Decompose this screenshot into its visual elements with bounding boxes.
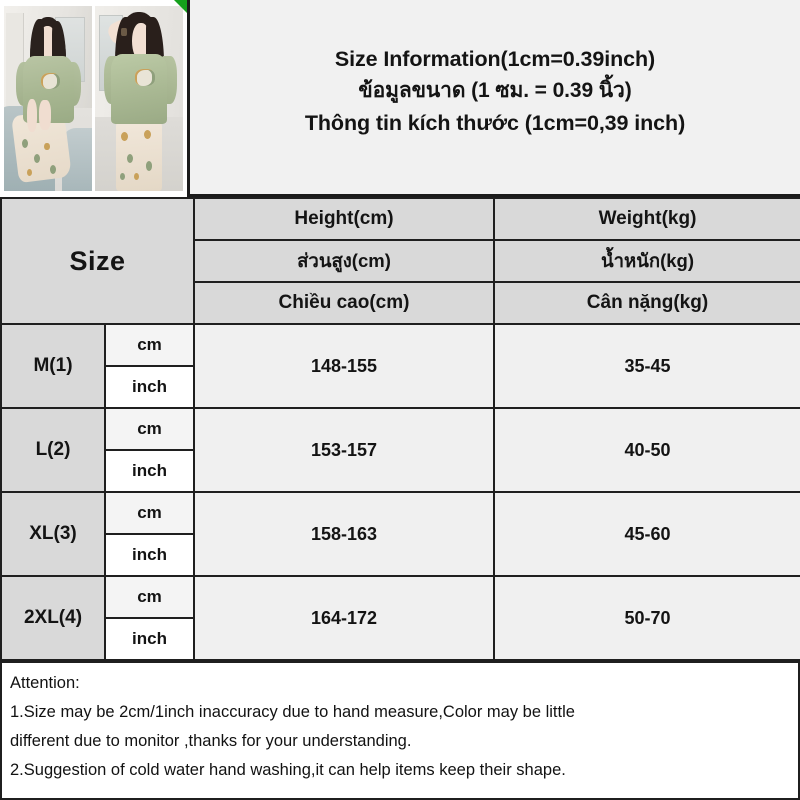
table-row: 2XL(4) cm 164-172 50-70 [1,576,800,618]
title-line-vietnamese: Thông tin kích thước (1cm=0,39 inch) [305,107,685,139]
product-photo-panel [0,0,190,197]
unit-inch-2xl: inch [105,618,194,660]
size-label-l: L(2) [1,408,105,492]
title-panel: Size Information(1cm=0.39inch) ข้อมูลขนา… [190,0,800,194]
size-label-xl: XL(3) [1,492,105,576]
attention-section: Attention: 1.Size may be 2cm/1inch inacc… [0,660,800,800]
product-photo-2 [95,6,183,191]
height-value-2xl: 164-172 [194,576,494,660]
attention-line-1: 1.Size may be 2cm/1inch inaccuracy due t… [10,698,790,727]
size-column-header: Size [1,198,194,324]
height-value-xl: 158-163 [194,492,494,576]
size-chart-page: Size Information(1cm=0.39inch) ข้อมูลขนา… [0,0,800,800]
table-row: L(2) cm 153-157 40-50 [1,408,800,450]
header-height-en: Height(cm) [194,198,494,240]
size-table: Size Height(cm) Weight(kg) ส่วนสูง(cm) น… [0,197,800,661]
unit-cm-m: cm [105,324,194,366]
attention-line-2: different due to monitor ,thanks for you… [10,727,790,756]
weight-value-m: 35-45 [494,324,800,408]
attention-heading: Attention: [10,669,790,698]
header-height-th: ส่วนสูง(cm) [194,240,494,282]
weight-value-xl: 45-60 [494,492,800,576]
header-weight-th: น้ำหนัก(kg) [494,240,800,282]
size-label-m: M(1) [1,324,105,408]
table-row: M(1) cm 148-155 35-45 [1,324,800,366]
unit-cm-xl: cm [105,492,194,534]
size-table-container: Size Height(cm) Weight(kg) ส่วนสูง(cm) น… [0,197,800,660]
unit-inch-xl: inch [105,534,194,576]
corner-marker-icon [174,0,187,13]
title-line-thai: ข้อมูลขนาด (1 ซม. = 0.39 นิ้ว) [358,75,631,107]
unit-inch-l: inch [105,450,194,492]
attention-line-3: 2.Suggestion of cold water hand washing,… [10,756,790,785]
height-value-l: 153-157 [194,408,494,492]
header-height-vi: Chiều cao(cm) [194,282,494,324]
size-label-2xl: 2XL(4) [1,576,105,660]
unit-cm-l: cm [105,408,194,450]
weight-value-l: 40-50 [494,408,800,492]
product-photo-1 [4,6,92,191]
header-weight-en: Weight(kg) [494,198,800,240]
unit-cm-2xl: cm [105,576,194,618]
table-header-row-english: Size Height(cm) Weight(kg) [1,198,800,240]
unit-inch-m: inch [105,366,194,408]
weight-value-2xl: 50-70 [494,576,800,660]
title-line-english: Size Information(1cm=0.39inch) [335,43,655,75]
header-weight-vi: Cân nặng(kg) [494,282,800,324]
height-value-m: 148-155 [194,324,494,408]
table-row: XL(3) cm 158-163 45-60 [1,492,800,534]
top-block: Size Information(1cm=0.39inch) ข้อมูลขนา… [0,0,800,197]
